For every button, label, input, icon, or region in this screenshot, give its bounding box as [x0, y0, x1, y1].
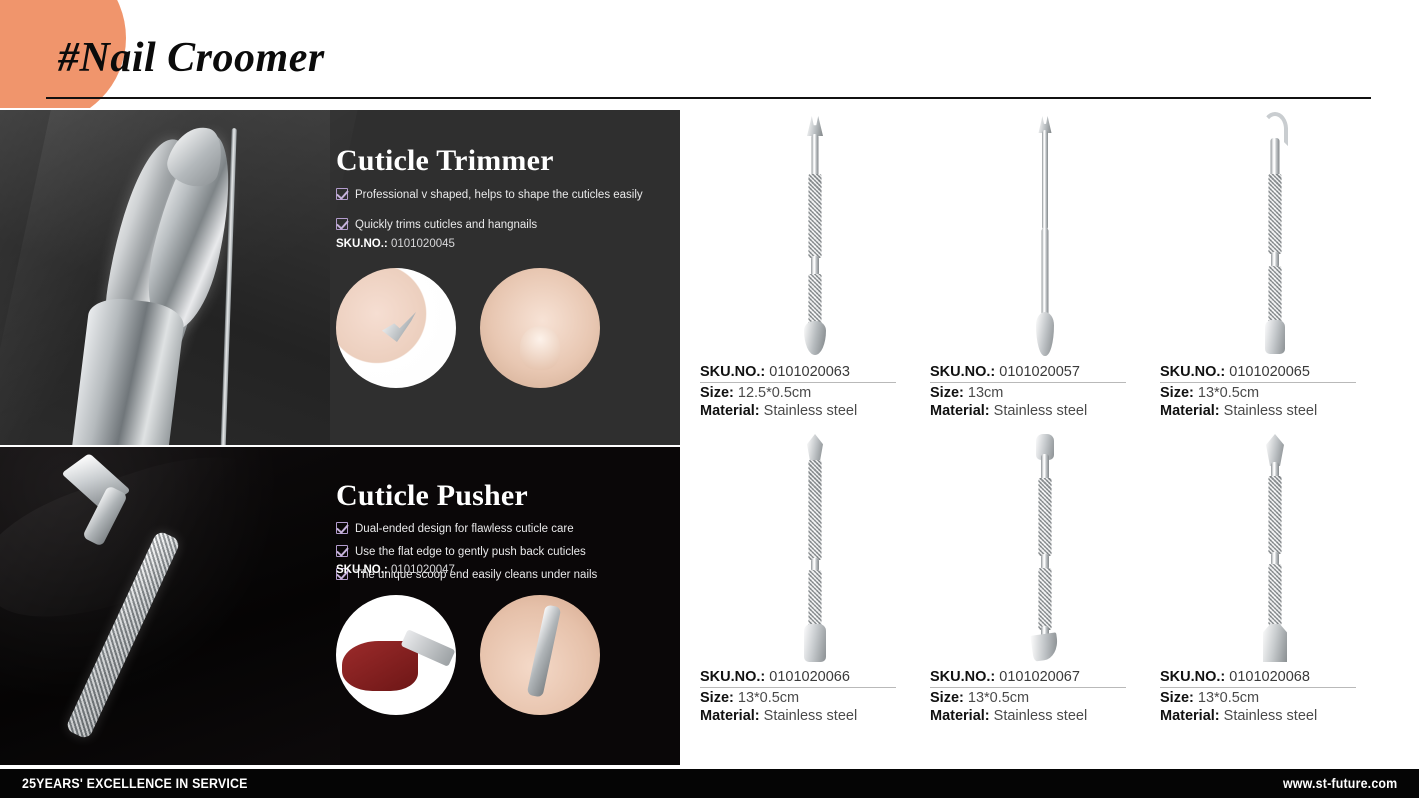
sku-value: 0101020067 [999, 669, 1080, 685]
sku-label: SKU.NO.: [1160, 669, 1225, 685]
feature-item: Professional v shaped, helps to shape th… [336, 188, 676, 202]
product-size-line: Size: 13*0.5cm [1160, 385, 1356, 401]
product-image-1 [700, 110, 930, 360]
product-image-6 [1160, 430, 1390, 665]
sku-label: SKU.NO.: [700, 364, 765, 380]
size-label: Size: [700, 690, 734, 706]
material-value: Stainless steel [1224, 403, 1318, 419]
page-header: #Nail Croomer [0, 0, 1419, 108]
feature-item: Use the flat edge to gently push back cu… [336, 545, 676, 559]
product-size-line: Size: 12.5*0.5cm [700, 385, 896, 401]
product-sku-line: SKU.NO.: 0101020066 [700, 669, 896, 688]
material-label: Material: [1160, 403, 1220, 419]
product-material-line: Material: Stainless steel [700, 403, 896, 419]
sku-value: 0101020057 [999, 364, 1080, 380]
product-material-line: Material: Stainless steel [1160, 708, 1356, 724]
footer-website[interactable]: www.st-future.com [1283, 776, 1397, 791]
nipper-handle [70, 295, 186, 445]
product-material-line: Material: Stainless steel [1160, 403, 1356, 419]
header-divider [46, 97, 1371, 99]
material-label: Material: [930, 403, 990, 419]
cuticle-pusher-illustration [58, 465, 248, 755]
feature-text: Professional v shaped, helps to shape th… [355, 188, 643, 202]
size-label: Size: [930, 690, 964, 706]
size-value: 13*0.5cm [1198, 385, 1259, 401]
pusher-title: Cuticle Pusher [336, 479, 528, 513]
red-nail-pusher-photo [336, 595, 456, 715]
product-grid: SKU.NO.: 0101020063 Size: 12.5*0.5cm Mat… [690, 110, 1419, 765]
material-value: Stainless steel [994, 403, 1088, 419]
size-label: Size: [1160, 690, 1194, 706]
material-value: Stainless steel [1224, 708, 1318, 724]
product-card[interactable]: SKU.NO.: 0101020063 Size: 12.5*0.5cm Mat… [700, 110, 930, 419]
material-value: Stainless steel [994, 708, 1088, 724]
product-image-4 [700, 430, 930, 665]
product-card[interactable]: SKU.NO.: 0101020057 Size: 13cm Material:… [930, 110, 1160, 419]
product-info: SKU.NO.: 0101020065 Size: 13*0.5cm Mater… [1160, 364, 1356, 419]
sku-value: 0101020047 [391, 564, 455, 576]
sku-value: 0101020065 [1229, 364, 1310, 380]
trimmer-title: Cuticle Trimmer [336, 144, 554, 178]
sku-label: SKU.NO.: [336, 238, 388, 250]
sku-value: 0101020066 [769, 669, 850, 685]
size-value: 13*0.5cm [738, 690, 799, 706]
size-label: Size: [700, 385, 734, 401]
feature-text: Use the flat edge to gently push back cu… [355, 545, 586, 559]
product-size-line: Size: 13*0.5cm [1160, 690, 1356, 706]
product-card[interactable]: SKU.NO.: 0101020067 Size: 13*0.5cm Mater… [930, 430, 1160, 724]
product-sku-line: SKU.NO.: 0101020057 [930, 364, 1126, 383]
product-info: SKU.NO.: 0101020067 Size: 13*0.5cm Mater… [930, 669, 1126, 724]
product-size-line: Size: 13*0.5cm [700, 690, 896, 706]
cuticle-nipper-illustration [50, 120, 300, 445]
panel-cuticle-trimmer: Cuticle Trimmer Professional v shaped, h… [0, 110, 680, 445]
hangnail-closeup-photo [480, 268, 600, 388]
product-sku-line: SKU.NO.: 0101020063 [700, 364, 896, 383]
product-sku-line: SKU.NO.: 0101020065 [1160, 364, 1356, 383]
pusher-feature-list: Dual-ended design for flawless cuticle c… [336, 522, 676, 591]
catalog-page: #Nail Croomer Cuticle Trimmer [0, 0, 1419, 798]
product-image-3 [1160, 110, 1390, 360]
hand-holding-pusher-photo [480, 595, 600, 715]
pusher-photo-row [336, 595, 600, 715]
product-card[interactable]: SKU.NO.: 0101020065 Size: 13*0.5cm Mater… [1160, 110, 1390, 419]
trimmer-hero-photo [0, 110, 330, 445]
material-label: Material: [1160, 708, 1220, 724]
product-card[interactable]: SKU.NO.: 0101020066 Size: 13*0.5cm Mater… [700, 430, 930, 724]
product-material-line: Material: Stainless steel [930, 403, 1126, 419]
sku-label: SKU.NO.: [700, 669, 765, 685]
size-value: 13*0.5cm [1198, 690, 1259, 706]
product-sku-line: SKU.NO.: 0101020068 [1160, 669, 1356, 688]
sku-value: 0101020068 [1229, 669, 1310, 685]
feature-item: Quickly trims cuticles and hangnails [336, 218, 676, 232]
material-value: Stainless steel [764, 708, 858, 724]
product-image-5 [930, 430, 1160, 665]
feature-text: Dual-ended design for flawless cuticle c… [355, 522, 574, 536]
material-label: Material: [700, 708, 760, 724]
sku-label: SKU.NO.: [336, 564, 388, 576]
product-size-line: Size: 13*0.5cm [930, 690, 1126, 706]
product-info: SKU.NO.: 0101020063 Size: 12.5*0.5cm Mat… [700, 364, 896, 419]
sku-value: 0101020063 [769, 364, 850, 380]
material-label: Material: [700, 403, 760, 419]
sku-label: SKU.NO.: [930, 669, 995, 685]
feature-panels-column: Cuticle Trimmer Professional v shaped, h… [0, 110, 680, 765]
product-card[interactable]: SKU.NO.: 0101020068 Size: 13*0.5cm Mater… [1160, 430, 1390, 724]
sku-label: SKU.NO.: [1160, 364, 1225, 380]
checkbox-icon [336, 218, 348, 230]
product-material-line: Material: Stainless steel [700, 708, 896, 724]
trimmer-photo-row [336, 268, 600, 388]
trimmer-panel-body: Cuticle Trimmer Professional v shaped, h… [336, 110, 680, 445]
size-label: Size: [1160, 385, 1194, 401]
pusher-panel-body: Cuticle Pusher Dual-ended design for fla… [336, 447, 680, 765]
product-info: SKU.NO.: 0101020057 Size: 13cm Material:… [930, 364, 1126, 419]
finger-with-trimmer-photo [336, 268, 456, 388]
checkbox-icon [336, 522, 348, 534]
material-label: Material: [930, 708, 990, 724]
product-size-line: Size: 13cm [930, 385, 1126, 401]
product-info: SKU.NO.: 0101020068 Size: 13*0.5cm Mater… [1160, 669, 1356, 724]
page-title: #Nail Croomer [58, 34, 325, 82]
feature-item: Dual-ended design for flawless cuticle c… [336, 522, 676, 536]
checkbox-icon [336, 188, 348, 200]
sku-value: 0101020045 [391, 238, 455, 250]
size-value: 12.5*0.5cm [738, 385, 811, 401]
trimmer-sku: SKU.NO.: 0101020045 [336, 238, 455, 250]
product-sku-line: SKU.NO.: 0101020067 [930, 669, 1126, 688]
pusher-hero-photo [0, 447, 340, 765]
pusher-sku: SKU.NO.: 0101020047 [336, 564, 455, 576]
product-material-line: Material: Stainless steel [930, 708, 1126, 724]
page-footer: 25YEARS' EXCELLENCE IN SERVICE www.st-fu… [0, 769, 1419, 798]
size-label: Size: [930, 385, 964, 401]
checkbox-icon [336, 545, 348, 557]
footer-tagline: 25YEARS' EXCELLENCE IN SERVICE [22, 776, 248, 791]
size-value: 13cm [968, 385, 1003, 401]
pusher-knurled-grip [65, 530, 182, 740]
material-value: Stainless steel [764, 403, 858, 419]
feature-text: Quickly trims cuticles and hangnails [355, 218, 537, 232]
product-image-2 [930, 110, 1160, 360]
product-info: SKU.NO.: 0101020066 Size: 13*0.5cm Mater… [700, 669, 896, 724]
sku-label: SKU.NO.: [930, 364, 995, 380]
panel-cuticle-pusher: Cuticle Pusher Dual-ended design for fla… [0, 447, 680, 765]
size-value: 13*0.5cm [968, 690, 1029, 706]
